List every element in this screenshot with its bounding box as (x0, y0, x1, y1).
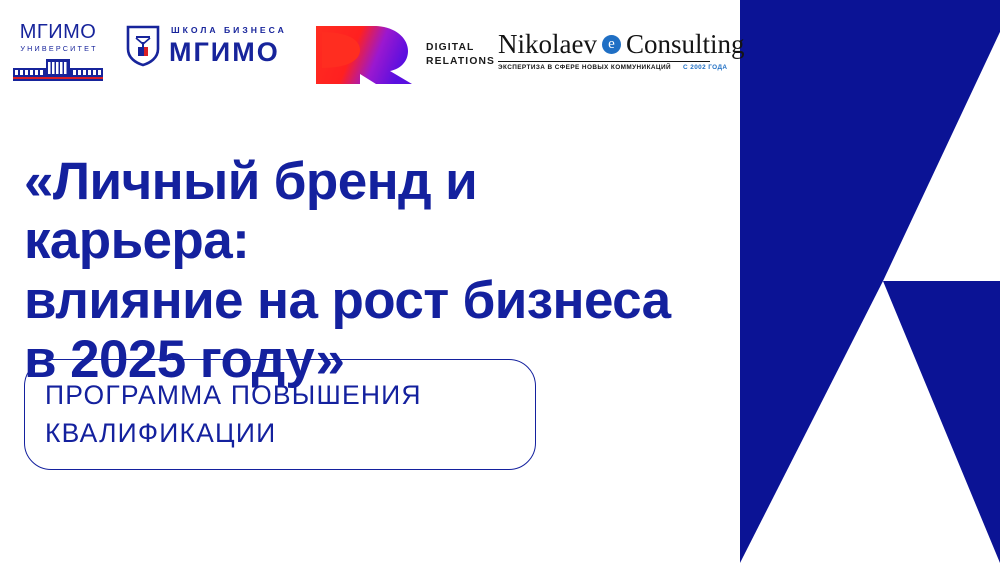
chevron-lower-triangle (883, 281, 1000, 563)
logo-mgimo-university-subtitle: УНИВЕРСИТЕТ (20, 45, 97, 52)
logo-nikolaev-divider (498, 61, 710, 62)
logo-mgimo-university: МГИМО УНИВЕРСИТЕТ (12, 22, 104, 82)
mgimo-shield-icon (126, 25, 160, 67)
digital-relations-dr-monogram-icon (316, 26, 412, 84)
logo-digital-relations-line2: RELATIONS (426, 55, 495, 69)
logo-digital-relations-line1: DIGITAL (426, 41, 495, 55)
program-type-badge-label: ПРОГРАММА ПОВЫШЕНИЯ КВАЛИФИКАЦИИ (45, 377, 422, 452)
logo-nikolaev-consulting: Nikolaev e Consulting ЭКСПЕРТИЗА В СФЕРЕ… (498, 31, 745, 71)
program-type-badge: ПРОГРАММА ПОВЫШЕНИЯ КВАЛИФИКАЦИИ (24, 359, 536, 470)
logo-nikolaev-tagline: ЭКСПЕРТИЗА В СФЕРЕ НОВЫХ КОММУНИКАЦИЙ (498, 65, 671, 71)
logo-mgimo-university-name: МГИМО (20, 22, 97, 42)
logo-nikolaev-wordmark: Nikolaev e Consulting (498, 31, 745, 58)
logo-bar: МГИМО УНИВЕРСИТЕТ (0, 0, 720, 110)
logo-business-school-top-line: ШКОЛА БИЗНЕСА (171, 26, 287, 35)
title-slide: МГИМО УНИВЕРСИТЕТ (0, 0, 1000, 563)
slide-headline: «Личный бренд и карьера: влияние на рост… (24, 152, 714, 389)
logo-digital-relations-text: DIGITAL RELATIONS (426, 41, 495, 69)
logo-business-school-text: ШКОЛА БИЗНЕСА МГИМО (169, 26, 287, 66)
logo-nikolaev-since: С 2002 ГОДА (683, 65, 727, 71)
logo-business-school-name: МГИМО (169, 39, 287, 66)
mgimo-building-icon (13, 56, 103, 82)
logo-digital-relations: DIGITAL RELATIONS (316, 26, 495, 84)
logo-nikolaev-word1: Nikolaev (498, 31, 597, 58)
decorative-chevron-graphic (720, 0, 1000, 563)
logo-nikolaev-tagline-row: ЭКСПЕРТИЗА В СФЕРЕ НОВЫХ КОММУНИКАЦИЙ С … (498, 65, 727, 71)
logo-nikolaev-word2: Consulting (626, 31, 745, 58)
logo-nikolaev-e-icon: e (602, 35, 621, 54)
logo-business-school-mgimo: ШКОЛА БИЗНЕСА МГИМО (126, 25, 287, 67)
